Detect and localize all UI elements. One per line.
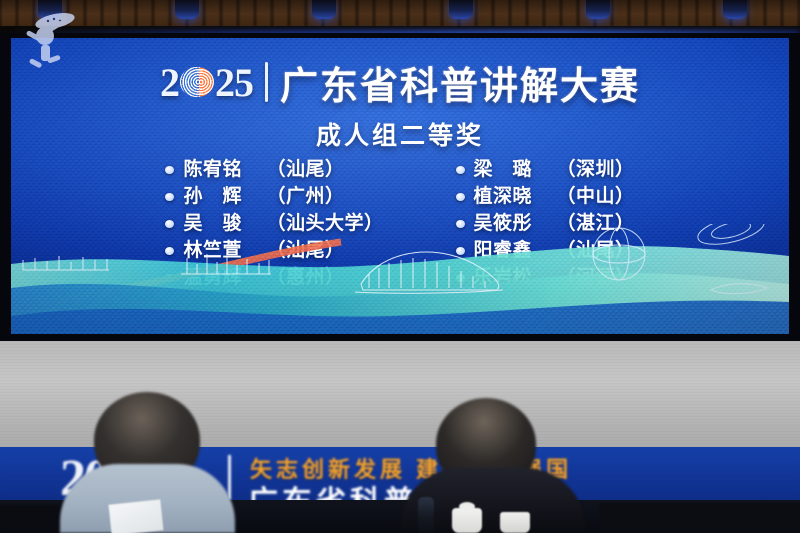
ceiling-light	[312, 0, 336, 19]
page-title: 广东省科普讲解大赛	[280, 55, 640, 110]
winner-entry: 植深晓（中山）	[456, 185, 635, 209]
winner-city: （汕尾）	[266, 158, 344, 182]
documents	[109, 499, 164, 533]
screen-bottom-artwork	[11, 224, 789, 334]
award-category-subtitle: 成人组二等奖	[11, 116, 789, 152]
table-shadow-right	[600, 503, 800, 533]
winner-city: （中山）	[557, 185, 635, 209]
paper-cup	[452, 508, 482, 533]
screen-title-row: 2 25 广东省科普讲解大赛	[11, 56, 789, 108]
winner-name: 植深晓	[474, 185, 548, 209]
logo-year-prefix: 2	[160, 59, 179, 106]
bullet-icon	[165, 193, 174, 201]
wave-city-graphic	[11, 224, 789, 334]
water-bottle	[418, 497, 434, 533]
winner-name: 孙 辉	[183, 185, 257, 209]
winner-entry: 孙 辉（广州）	[165, 185, 383, 209]
ceiling-light	[175, 0, 199, 19]
bullet-icon	[456, 166, 465, 174]
bullet-icon	[165, 166, 174, 174]
figure-with-disc-logo-watermark	[22, 8, 78, 70]
ceiling-light	[449, 0, 473, 19]
ceiling-light	[586, 0, 610, 19]
winner-city: （深圳）	[557, 158, 635, 182]
winner-entry: 陈宥铭（汕尾）	[165, 158, 383, 182]
winner-name: 梁 璐	[474, 158, 548, 182]
bullet-icon	[456, 193, 465, 201]
paper-cup	[500, 512, 530, 533]
ceiling-light	[723, 0, 747, 19]
screenshot-stage: 2 25 广东省科普讲解大赛 成人组二等奖 陈宥铭（汕尾）孙 辉（广州）吴 骏（…	[0, 0, 800, 533]
winner-entry: 梁 璐（深圳）	[456, 158, 635, 182]
fingerprint-swirl-icon	[180, 67, 214, 97]
title-divider	[265, 62, 268, 102]
winner-name: 陈宥铭	[183, 158, 257, 182]
winner-city: （广州）	[266, 185, 344, 209]
logo-year-suffix: 25	[215, 59, 253, 106]
event-year-logo: 2 25	[160, 59, 253, 106]
led-screen: 2 25 广东省科普讲解大赛 成人组二等奖 陈宥铭（汕尾）孙 辉（广州）吴 骏（…	[11, 38, 789, 334]
